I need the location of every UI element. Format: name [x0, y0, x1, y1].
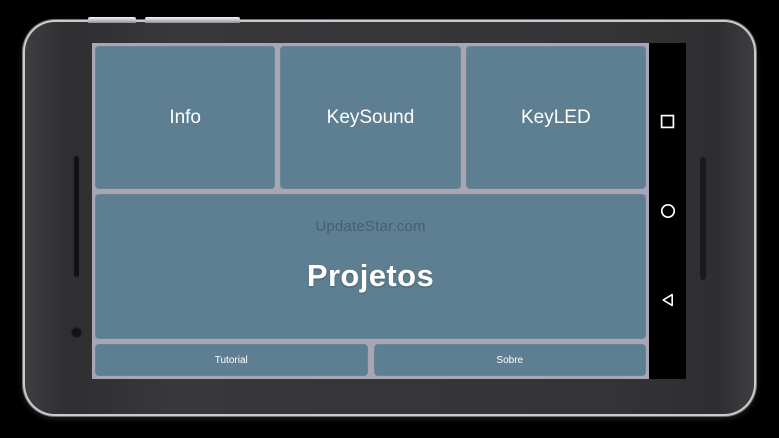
phone-screen: Info KeySound KeyLED UpdateStar.com Proj… — [92, 43, 686, 379]
bottom-button-row: Tutorial Sobre — [95, 344, 646, 376]
projetos-button-label: Projetos — [307, 258, 434, 294]
keyled-button[interactable]: KeyLED — [466, 46, 646, 189]
info-button-label: Info — [169, 107, 201, 129]
keysound-button[interactable]: KeySound — [280, 46, 460, 189]
keyled-button-label: KeyLED — [521, 107, 591, 129]
circle-home-icon — [660, 203, 676, 219]
app-viewport: Info KeySound KeyLED UpdateStar.com Proj… — [92, 43, 649, 379]
tutorial-button[interactable]: Tutorial — [95, 344, 368, 376]
front-camera — [71, 327, 82, 338]
android-navigation-bar — [649, 43, 686, 379]
volume-rocker[interactable] — [145, 17, 240, 23]
top-button-row: Info KeySound KeyLED — [95, 46, 646, 189]
phone-device-frame: Info KeySound KeyLED UpdateStar.com Proj… — [25, 22, 754, 414]
square-recents-icon — [660, 114, 675, 129]
sobre-button-label: Sobre — [496, 355, 523, 366]
keysound-button-label: KeySound — [327, 107, 415, 129]
sobre-button[interactable]: Sobre — [374, 344, 647, 376]
info-button[interactable]: Info — [95, 46, 275, 189]
power-button[interactable] — [88, 17, 136, 23]
recents-button[interactable] — [653, 107, 683, 137]
projetos-button[interactable]: UpdateStar.com Projetos — [95, 194, 646, 339]
tutorial-button-label: Tutorial — [215, 355, 248, 366]
bottom-speaker — [700, 157, 706, 280]
updatestar-watermark: UpdateStar.com — [96, 218, 645, 235]
earpiece-speaker — [74, 156, 79, 277]
back-button[interactable] — [653, 285, 683, 315]
home-button[interactable] — [653, 196, 683, 226]
triangle-back-icon — [660, 292, 676, 308]
